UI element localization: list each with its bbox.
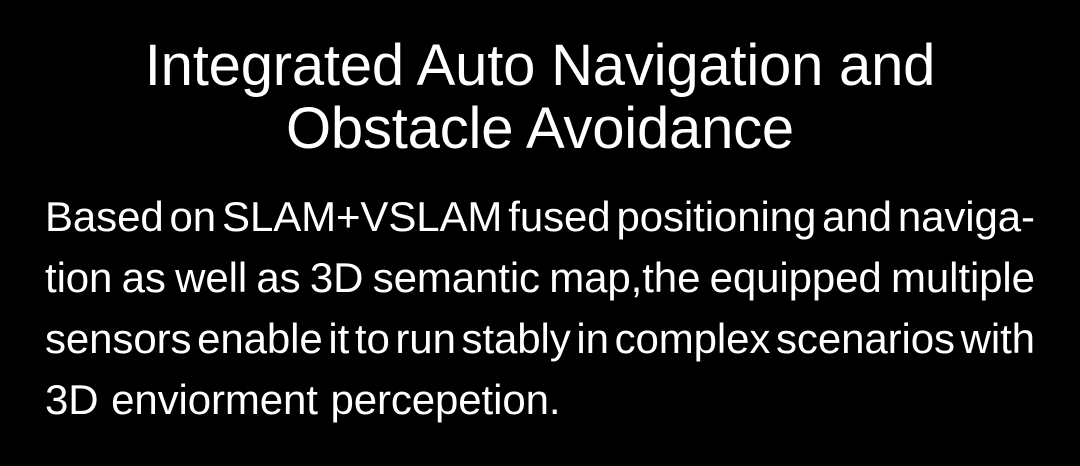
body-word: 3D	[45, 369, 99, 430]
body-word: multiple	[891, 247, 1035, 308]
body-word: enviorment	[111, 369, 318, 430]
body-word: tion	[45, 247, 112, 308]
body-line-2: tionaswellas3Dsemanticmap,theequippedmul…	[45, 247, 1035, 308]
body-word: it	[328, 308, 349, 369]
body-word: run	[395, 308, 455, 369]
body-paragraph: BasedonSLAM+VSLAMfusedpositioningandnavi…	[45, 186, 1035, 430]
body-word: semantic	[373, 247, 540, 308]
page-title-line-2: Obstacle Avoidance	[0, 97, 1080, 160]
body-line-1: BasedonSLAM+VSLAMfusedpositioningandnavi…	[45, 186, 1035, 247]
body-word: in	[576, 308, 609, 369]
body-word: with	[961, 308, 1035, 369]
body-line-4: 3Denviormentpercepetion.	[45, 369, 1035, 430]
body-word: scenarios	[776, 308, 955, 369]
body-word: map,the	[549, 247, 700, 308]
body-word: complex	[615, 308, 771, 369]
body-word: stably	[462, 308, 571, 369]
body-word: sensors	[45, 308, 191, 369]
body-word: 3D	[310, 247, 364, 308]
body-line-3: sensorsenableittorunstablyincomplexscena…	[45, 308, 1035, 369]
page-title-line-1: Integrated Auto Navigation and	[0, 34, 1080, 97]
body-word: SLAM+VSLAM	[222, 186, 502, 247]
body-word: to	[355, 308, 390, 369]
body-word: fused	[508, 186, 610, 247]
body-word: positioning	[616, 186, 816, 247]
body-word: as	[122, 247, 166, 308]
body-word: well	[175, 247, 247, 308]
page-title: Integrated Auto Navigation and Obstacle …	[0, 34, 1080, 160]
body-word: enable	[197, 308, 323, 369]
body-word: Based	[45, 186, 164, 247]
body-word: naviga-	[898, 186, 1035, 247]
body-word: as	[256, 247, 300, 308]
slide-root: Integrated Auto Navigation and Obstacle …	[0, 0, 1080, 466]
body-word: percepetion.	[330, 369, 560, 430]
body-word: on	[170, 186, 217, 247]
body-word: equipped	[710, 247, 882, 308]
body-word: and	[822, 186, 892, 247]
